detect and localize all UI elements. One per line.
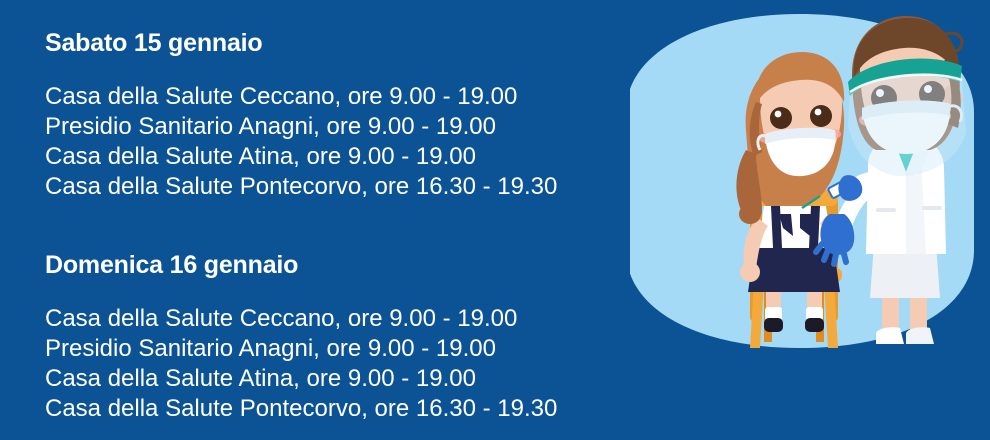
- nurse-shoe-left: [876, 327, 904, 344]
- nurse-shoe-right: [906, 327, 934, 344]
- schedule-block-sunday: Domenica 16 gennaio Casa della Salute Ce…: [45, 250, 645, 424]
- session-item: Casa della Salute Atina, ore 9.00 - 19.0…: [45, 142, 645, 172]
- day-heading-saturday: Sabato 15 gennaio: [45, 28, 645, 58]
- day-heading-sunday: Domenica 16 gennaio: [45, 250, 645, 280]
- session-item: Casa della Salute Ceccano, ore 9.00 - 19…: [45, 82, 645, 112]
- session-item: Presidio Sanitario Anagni, ore 9.00 - 19…: [45, 334, 645, 364]
- session-item: Presidio Sanitario Anagni, ore 9.00 - 19…: [45, 112, 645, 142]
- session-list-sunday: Casa della Salute Ceccano, ore 9.00 - 19…: [45, 304, 645, 424]
- schedule-block-saturday: Sabato 15 gennaio Casa della Salute Cecc…: [45, 28, 645, 202]
- session-item: Casa della Salute Ceccano, ore 9.00 - 19…: [45, 304, 645, 334]
- session-item: Casa della Salute Pontecorvo, ore 16.30 …: [45, 394, 645, 424]
- session-list-saturday: Casa della Salute Ceccano, ore 9.00 - 19…: [45, 82, 645, 202]
- schedule-text-column: Sabato 15 gennaio Casa della Salute Cecc…: [45, 0, 645, 440]
- session-item: Casa della Salute Atina, ore 9.00 - 19.0…: [45, 364, 645, 394]
- session-item: Casa della Salute Pontecorvo, ore 16.30 …: [45, 172, 645, 202]
- child-vaccination-illustration: [630, 0, 990, 440]
- vaccination-schedule-banner: Sabato 15 gennaio Casa della Salute Cecc…: [0, 0, 990, 440]
